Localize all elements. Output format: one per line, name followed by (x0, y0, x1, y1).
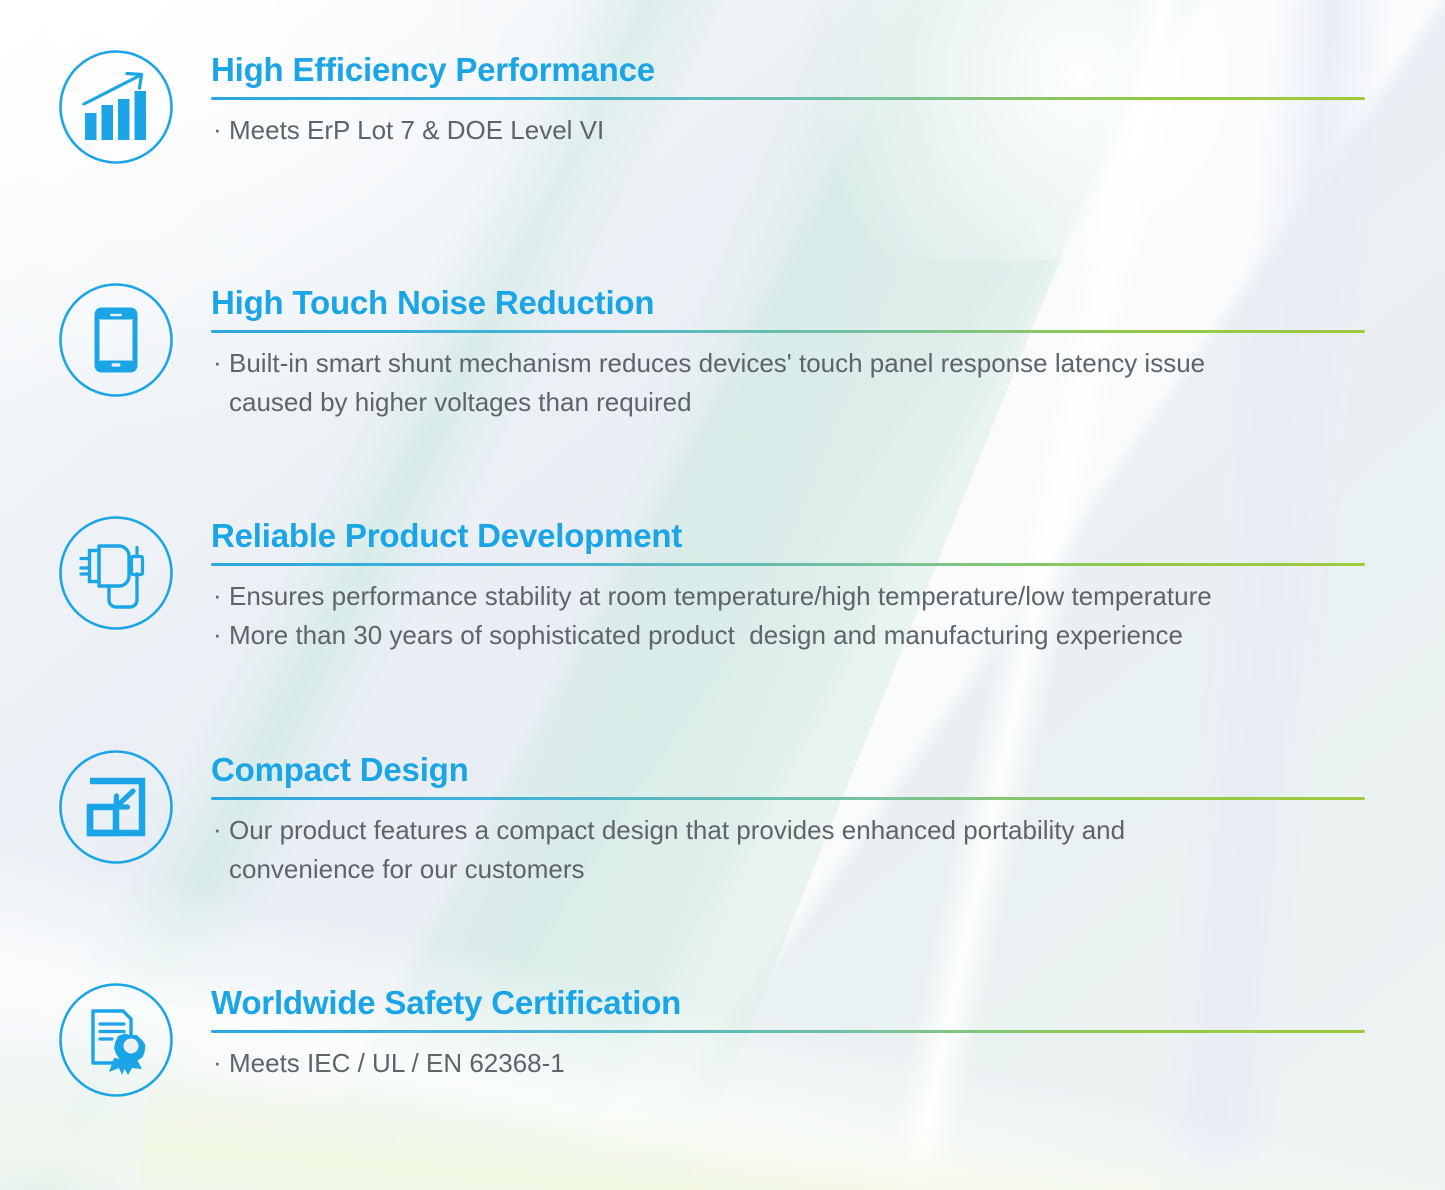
feature-bullets: Meets ErP Lot 7 & DOE Level VI (211, 111, 1445, 150)
feature-icon-container (53, 281, 179, 399)
feature-bullets: Built-in smart shunt mechanism reduces d… (211, 344, 1445, 422)
feature-bullets: Our product features a compact design th… (211, 811, 1445, 889)
feature-icon-container (53, 48, 179, 166)
feature-divider (211, 1030, 1365, 1033)
feature-icon-container (53, 748, 179, 866)
feature-item: Reliable Product Development Ensures per… (0, 514, 1445, 655)
feature-title: High Efficiency Performance (211, 50, 1445, 90)
feature-bullet: Meets ErP Lot 7 & DOE Level VI (211, 111, 1445, 150)
feature-list: High Efficiency Performance Meets ErP Lo… (0, 0, 1445, 1190)
feature-bullet: Built-in smart shunt mechanism reduces d… (211, 344, 1445, 383)
feature-bullet: Our product features a compact design th… (211, 811, 1445, 850)
feature-bullet-continuation: convenience for our customers (211, 850, 1445, 889)
feature-title: Worldwide Safety Certification (211, 983, 1445, 1023)
feature-divider (211, 97, 1365, 100)
feature-title: Reliable Product Development (211, 516, 1445, 556)
feature-item: Worldwide Safety Certification Meets IEC… (0, 981, 1445, 1099)
feature-item: High Touch Noise Reduction Built-in smar… (0, 281, 1445, 422)
feature-text-block: Reliable Product Development Ensures per… (211, 514, 1445, 655)
feature-title: High Touch Noise Reduction (211, 283, 1445, 323)
feature-divider (211, 330, 1365, 333)
feature-icon-container (53, 981, 179, 1099)
smartphone-icon (57, 281, 175, 399)
feature-title: Compact Design (211, 750, 1445, 790)
feature-bullets: Meets IEC / UL / EN 62368-1 (211, 1044, 1445, 1083)
feature-item: Compact Design Our product features a co… (0, 748, 1445, 889)
feature-text-block: Worldwide Safety Certification Meets IEC… (211, 981, 1445, 1083)
power-adapter-icon (57, 514, 175, 632)
feature-icon-container (53, 514, 179, 632)
feature-text-block: Compact Design Our product features a co… (211, 748, 1445, 889)
feature-bullet: Ensures performance stability at room te… (211, 577, 1445, 616)
feature-divider (211, 797, 1365, 800)
bar-chart-growth-icon (57, 48, 175, 166)
certificate-award-icon (57, 981, 175, 1099)
compact-resize-icon (57, 748, 175, 866)
feature-bullet: More than 30 years of sophisticated prod… (211, 616, 1445, 655)
feature-item: High Efficiency Performance Meets ErP Lo… (0, 48, 1445, 166)
feature-divider (211, 563, 1365, 566)
feature-bullets: Ensures performance stability at room te… (211, 577, 1445, 655)
feature-bullet: Meets IEC / UL / EN 62368-1 (211, 1044, 1445, 1083)
feature-text-block: High Efficiency Performance Meets ErP Lo… (211, 48, 1445, 150)
feature-text-block: High Touch Noise Reduction Built-in smar… (211, 281, 1445, 422)
feature-bullet-continuation: caused by higher voltages than required (211, 383, 1445, 422)
feature-highlights-page: High Efficiency Performance Meets ErP Lo… (0, 0, 1445, 1190)
